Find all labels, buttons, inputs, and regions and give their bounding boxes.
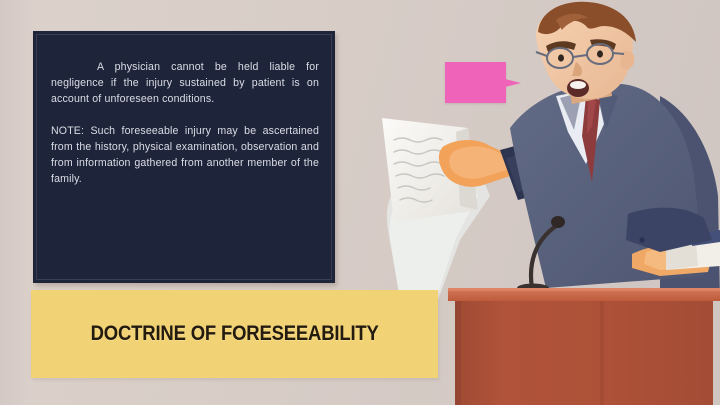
figure-teeth [570, 81, 586, 89]
sleeve-button-right-icon [639, 237, 644, 242]
figure-eye-right [597, 50, 603, 57]
figure-eye-left [558, 54, 564, 61]
content-card-body: A physician cannot be held liable for ne… [51, 59, 319, 202]
content-card: A physician cannot be held liable for ne… [33, 31, 335, 283]
speech-bubble-tail [505, 79, 521, 87]
background-left-gradient [0, 0, 34, 405]
speech-bubble [445, 62, 506, 103]
page-title: DOCTRINE OF FORESEEABILITY [90, 322, 378, 346]
card-paragraph-note: NOTE: Such foreseeable injury may be asc… [51, 123, 319, 188]
card-paragraph-rule: A physician cannot be held liable for ne… [51, 59, 319, 108]
slide-canvas: A physician cannot be held liable for ne… [0, 0, 720, 405]
title-band: DOCTRINE OF FORESEEABILITY [31, 290, 438, 378]
podium [448, 288, 720, 405]
